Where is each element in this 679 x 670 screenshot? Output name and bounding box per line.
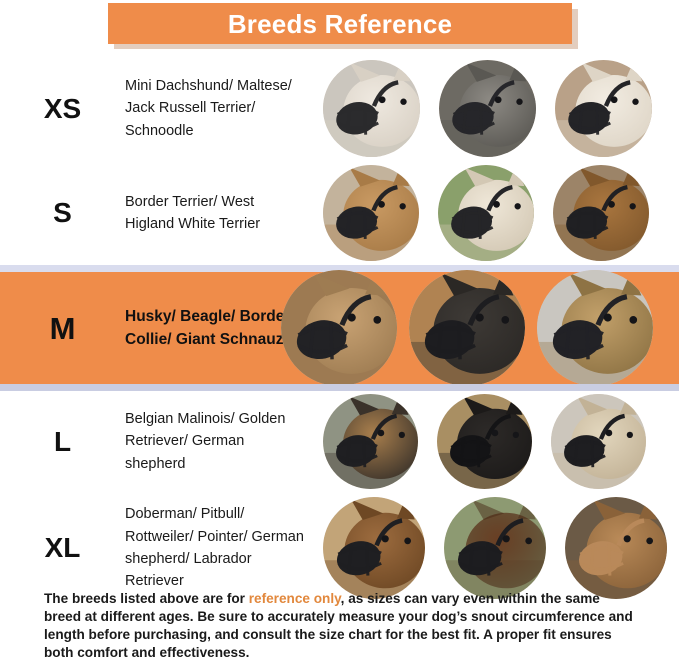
dog-photo — [565, 497, 667, 599]
dog-photo — [281, 270, 397, 386]
dog-photo — [551, 394, 646, 489]
dog-photo — [444, 497, 546, 599]
breeds-list-xs: Mini Dachshund/ Maltese/ Jack Russell Te… — [125, 75, 305, 142]
dog-photo — [537, 270, 653, 386]
size-label-m: M — [0, 313, 125, 344]
dog-photo — [439, 60, 536, 157]
photo-group-xl — [305, 497, 679, 599]
breeds-list-s: Border Terrier/ West Higland White Terri… — [125, 191, 305, 236]
disclaimer-text: The breeds listed above are for referenc… — [44, 590, 635, 662]
dog-photo — [555, 60, 652, 157]
size-label-s: S — [0, 199, 125, 227]
breeds-list-xl: Doberman/ Pitbull/ Rottweiler/ Pointer/ … — [125, 503, 305, 593]
dog-photo — [323, 497, 425, 599]
page-title: Breeds Reference — [228, 11, 452, 37]
disclaimer-part-1: The breeds listed above are for — [44, 591, 249, 606]
dog-photo — [438, 165, 534, 261]
breeds-list-m: Husky/ Beagle/ Border Collie/ Giant Schn… — [125, 305, 305, 352]
photo-group-m — [281, 270, 679, 386]
breeds-list-l: Belgian Malinois/ Golden Retriever/ Germ… — [125, 408, 305, 475]
size-label-xs: XS — [0, 95, 125, 123]
photo-group-s — [305, 165, 679, 261]
size-label-xl: XL — [0, 534, 125, 562]
table-row: SBorder Terrier/ West Higland White Terr… — [0, 161, 679, 265]
footer-disclaimer: The breeds listed above are for referenc… — [0, 590, 679, 670]
dog-photo — [409, 270, 525, 386]
size-label-l: L — [0, 428, 125, 456]
dog-photo — [323, 165, 419, 261]
table-row: XSMini Dachshund/ Maltese/ Jack Russell … — [0, 56, 679, 161]
table-row: XLDoberman/ Pitbull/ Rottweiler/ Pointer… — [0, 492, 679, 604]
header: Breeds Reference — [0, 0, 679, 56]
breeds-reference-table: XSMini Dachshund/ Maltese/ Jack Russell … — [0, 56, 679, 604]
photo-group-l — [305, 394, 679, 489]
disclaimer-accent: reference only — [249, 591, 341, 606]
table-row: MHusky/ Beagle/ Border Collie/ Giant Sch… — [0, 265, 679, 391]
dog-photo — [553, 165, 649, 261]
photo-group-xs — [305, 60, 679, 157]
table-row: LBelgian Malinois/ Golden Retriever/ Ger… — [0, 391, 679, 492]
dog-photo — [323, 394, 418, 489]
dog-photo — [323, 60, 420, 157]
header-banner: Breeds Reference — [108, 3, 572, 44]
dog-photo — [437, 394, 532, 489]
